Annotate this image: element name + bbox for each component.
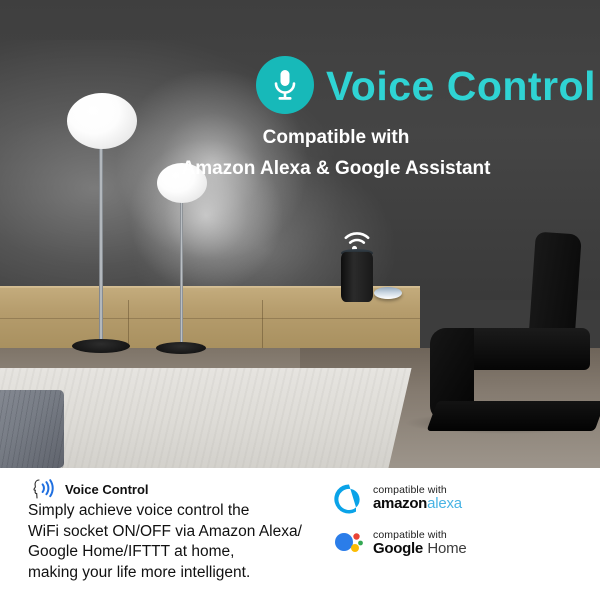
subtitle-line-1: Compatible with (0, 127, 600, 149)
lounge-chair (418, 233, 596, 428)
feature-body-text: Simply achieve voice control the WiFi so… (28, 501, 328, 583)
floor-lamp-small-pole (180, 196, 183, 348)
sideboard-seam (262, 300, 263, 350)
voice-wave-icon (30, 478, 56, 500)
floor-lamp-small-base (156, 342, 206, 354)
feature-description-panel: Voice Control Simply achieve voice contr… (0, 468, 600, 600)
product-marketing-image: Voice Control Compatible with Amazon Ale… (0, 0, 600, 600)
sideboard-edge-line (0, 318, 420, 319)
google-brand-google: Google (373, 540, 423, 557)
google-brand-home: Home (427, 540, 466, 557)
alexa-badge: compatible with amazonalexa (332, 482, 482, 516)
smart-plug-puck (374, 287, 402, 299)
alexa-badge-text: compatible with amazonalexa (373, 485, 462, 513)
smart-speaker (341, 252, 373, 302)
alexa-logo-icon (332, 482, 366, 516)
page-title: Voice Control (326, 58, 596, 114)
chair-foot (427, 401, 600, 431)
body-line: Simply achieve voice control the (28, 501, 328, 522)
floor-lamp-large-base (72, 339, 130, 353)
sideboard-seam (128, 300, 129, 350)
alexa-brand-alexa: alexa (427, 495, 462, 512)
body-line: making your life more intelligent. (28, 563, 328, 584)
subtitle-line-2: Amazon Alexa & Google Assistant (0, 158, 600, 180)
google-assistant-logo-icon (332, 527, 366, 561)
microphone-icon (270, 68, 300, 102)
body-line: Google Home/IFTTT at home, (28, 542, 328, 563)
body-line: WiFi socket ON/OFF via Amazon Alexa/ (28, 522, 328, 543)
microphone-badge (256, 56, 314, 114)
alexa-brand-amazon: amazon (373, 495, 427, 512)
sofa-texture (0, 390, 64, 468)
compatibility-badges: compatible with amazonalexa compatible w… (332, 482, 482, 572)
room-scene-photo: Voice Control Compatible with Amazon Ale… (0, 0, 600, 468)
google-home-badge: compatible with Google Home (332, 527, 482, 561)
feature-heading-row: Voice Control (30, 478, 149, 500)
google-badge-text: compatible with Google Home (373, 530, 467, 558)
feature-label: Voice Control (65, 482, 149, 497)
